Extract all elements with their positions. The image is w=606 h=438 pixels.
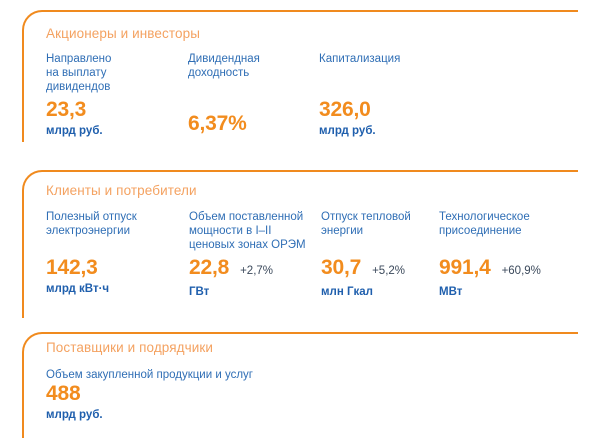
bracket-top-line xyxy=(42,332,578,334)
metric-value: 30,7 xyxy=(321,256,361,280)
metric-value-row: 142,3 xyxy=(46,256,186,280)
metric-value: 488 xyxy=(46,382,80,406)
metric-value-row: 991,4 +60,9% xyxy=(439,256,589,283)
metric-value-row: 22,8 +2,7% xyxy=(189,256,329,283)
metric-value: 23,3 xyxy=(46,98,86,122)
metric-dividends-paid: Направлено на выплату дивидендов 23,3 мл… xyxy=(46,52,186,139)
metric-capacity-supplied: Объем поставленной мощности в I–II ценов… xyxy=(189,210,329,300)
metrics-row: Полезный отпуск электроэнергии 142,3 млр… xyxy=(46,210,578,302)
bracket-corner xyxy=(22,170,44,192)
kpi-infographic: Акционеры и инвесторы Направлено на выпл… xyxy=(0,0,606,438)
metric-unit: млрд руб. xyxy=(46,124,186,139)
metric-grid-connection: Технологическое присоединение 991,4 +60,… xyxy=(439,210,589,300)
metric-label: Полезный отпуск электроэнергии xyxy=(46,210,186,238)
metric-unit: млрд кВт·ч xyxy=(46,282,186,297)
metric-value: 6,37% xyxy=(188,112,247,136)
metric-value: 142,3 xyxy=(46,256,98,280)
metric-dividend-yield: Дивидендная доходность 6,37% xyxy=(188,52,318,136)
bracket-top-line xyxy=(42,10,578,12)
metric-delta-badge: +5,2% xyxy=(372,259,405,283)
metrics-row: Направлено на выплату дивидендов 23,3 мл… xyxy=(46,52,578,142)
metric-value-row: 23,3 xyxy=(46,98,186,122)
metric-label: Технологическое присоединение xyxy=(439,210,589,238)
section-title-clients: Клиенты и потребители xyxy=(46,183,197,198)
section-title-suppliers: Поставщики и подрядчики xyxy=(46,340,213,355)
metric-unit: млрд руб. xyxy=(319,124,479,139)
metric-label: Отпуск тепловой энергии xyxy=(321,210,446,238)
bracket-left-line xyxy=(22,190,24,318)
bracket-corner xyxy=(22,332,44,354)
metric-value-row: 488 xyxy=(46,382,366,406)
metric-delta-badge: +60,9% xyxy=(502,259,541,283)
metric-label: Объем поставленной мощности в I–II ценов… xyxy=(189,210,329,252)
metric-label: Капитализация xyxy=(319,52,479,66)
metric-unit: МВт xyxy=(439,285,589,300)
metric-value-row: 6,37% xyxy=(188,112,318,136)
metric-value-row: 326,0 xyxy=(319,98,479,122)
bracket-corner xyxy=(22,10,44,32)
bracket-left-line xyxy=(22,352,24,438)
metric-value: 326,0 xyxy=(319,98,371,122)
metric-label: Дивидендная доходность xyxy=(188,52,318,80)
metric-unit: млн Гкал xyxy=(321,285,446,300)
metric-heat-supply: Отпуск тепловой энергии 30,7 +5,2% млн Г… xyxy=(321,210,446,300)
metric-unit: ГВт xyxy=(189,285,329,300)
metrics-row: Объем закупленной продукции и услуг 488 … xyxy=(46,368,578,424)
bracket-top-line xyxy=(42,170,578,172)
metric-value: 991,4 xyxy=(439,256,491,280)
metric-label: Объем закупленной продукции и услуг xyxy=(46,368,366,382)
section-title-shareholders: Акционеры и инвесторы xyxy=(46,26,200,41)
metric-value: 22,8 xyxy=(189,256,229,280)
metric-electricity-supply: Полезный отпуск электроэнергии 142,3 млр… xyxy=(46,210,186,297)
metric-capitalization: Капитализация 326,0 млрд руб. xyxy=(319,52,479,139)
metric-label: Направлено на выплату дивидендов xyxy=(46,52,186,94)
metric-delta-badge: +2,7% xyxy=(240,259,273,283)
bracket-left-line xyxy=(22,30,24,142)
metric-unit: млрд руб. xyxy=(46,408,366,423)
metric-value-row: 30,7 +5,2% xyxy=(321,256,446,283)
metric-procurement-volume: Объем закупленной продукции и услуг 488 … xyxy=(46,368,366,423)
